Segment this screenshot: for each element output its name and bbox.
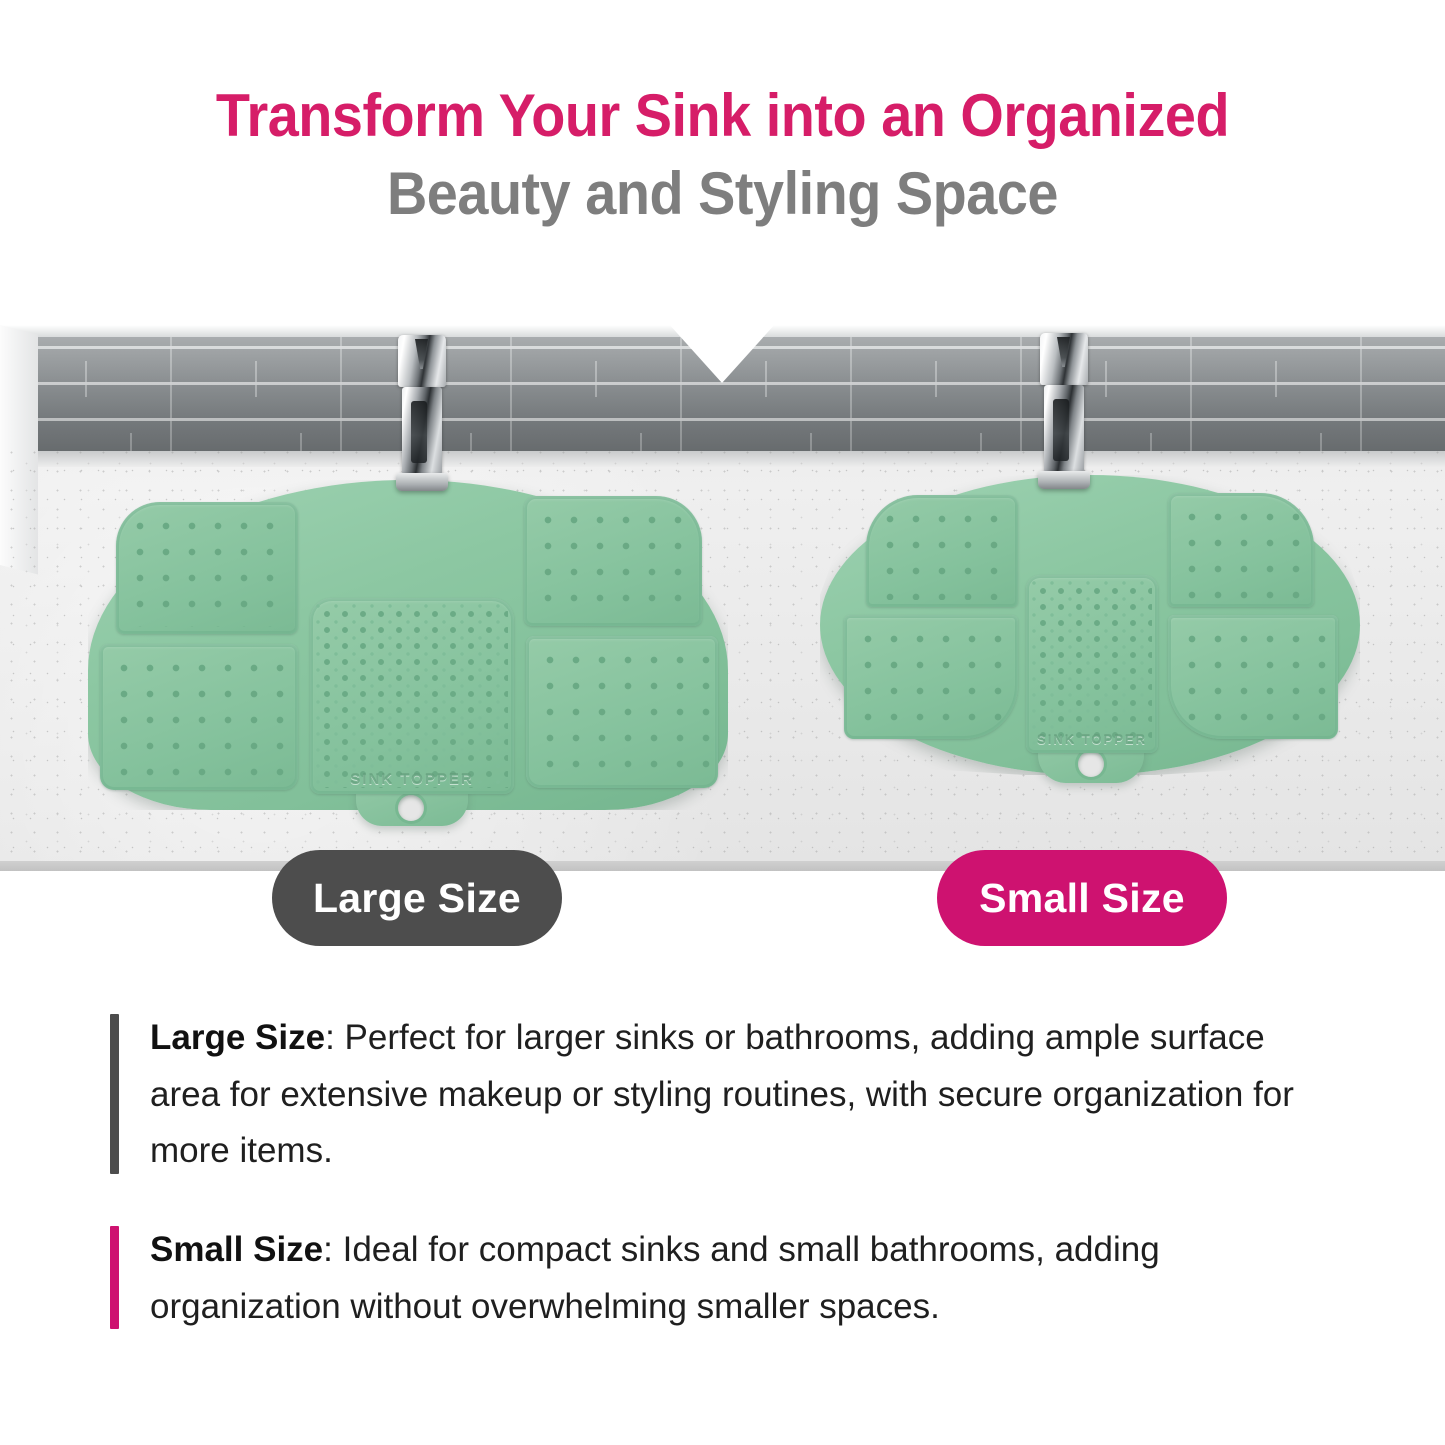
faucet-body-reflection (411, 401, 427, 463)
product-photo: SINK TOPPER SINK TOPPER (0, 325, 1445, 871)
badge-large-size-label: Large Size (313, 875, 521, 922)
mat-panel-top-left-large (116, 502, 298, 634)
perforation-dots-fine (316, 604, 508, 788)
feature-accent-bar-small (110, 1226, 119, 1329)
headline-line-2: Beauty and Styling Space (51, 164, 1395, 224)
sink-topper-mat-small: SINK TOPPER (820, 475, 1360, 775)
badge-large-size: Large Size (272, 850, 562, 946)
perforation-dots (107, 651, 291, 783)
feature-lead-small: Small Size (150, 1230, 323, 1269)
perforation-dots (531, 503, 695, 619)
mat-panel-bottom-right-large (526, 636, 718, 788)
mat-panel-bottom-left-small (844, 615, 1018, 739)
infographic-page: Transform Your Sink into an Organized Be… (0, 0, 1445, 1445)
faucet-body-reflection (1053, 399, 1069, 461)
feature-text-small: Small Size: Ideal for compact sinks and … (150, 1222, 1340, 1335)
mat-panel-center-small: SINK TOPPER (1026, 575, 1158, 753)
perforation-dots (533, 643, 711, 781)
perforation-dots (851, 622, 1011, 732)
counter-front-edge (0, 861, 1445, 871)
mat-brand-text-small: SINK TOPPER (1026, 732, 1158, 747)
perforation-dots (123, 509, 291, 627)
feature-list: Large Size: Perfect for larger sinks or … (0, 1010, 1445, 1377)
mat-panel-bottom-left-large (100, 644, 298, 790)
speech-bubble-pointer-icon (668, 325, 776, 383)
page-title: Transform Your Sink into an Organized Be… (0, 86, 1445, 224)
perforation-dots (1175, 500, 1307, 600)
feature-item-small: Small Size: Ideal for compact sinks and … (0, 1222, 1445, 1335)
feature-lead-large: Large Size (150, 1018, 325, 1057)
badge-small-size: Small Size (937, 850, 1227, 946)
mat-panel-top-right-small (1168, 493, 1314, 607)
mat-panel-bottom-right-small (1168, 615, 1338, 739)
faucet-base (396, 473, 448, 491)
mat-hang-hole-large (398, 795, 424, 821)
feature-item-large: Large Size: Perfect for larger sinks or … (0, 1010, 1445, 1180)
headline-line-1: Transform Your Sink into an Organized (51, 86, 1395, 146)
mat-brand-text-large: SINK TOPPER (310, 771, 514, 788)
perforation-dots-fine (1032, 581, 1152, 747)
perforation-dots (1175, 622, 1331, 732)
badge-small-size-label: Small Size (979, 875, 1185, 922)
mat-hang-hole-small (1078, 751, 1104, 777)
perforation-dots (873, 502, 1011, 600)
mat-panel-top-left-small (866, 495, 1018, 607)
mat-panel-center-large: SINK TOPPER (310, 598, 514, 794)
mat-panel-top-right-large (524, 496, 702, 626)
feature-accent-bar-large (110, 1014, 119, 1174)
faucet-base (1038, 471, 1090, 489)
sink-topper-mat-large: SINK TOPPER (88, 480, 728, 810)
feature-text-large: Large Size: Perfect for larger sinks or … (150, 1010, 1340, 1180)
